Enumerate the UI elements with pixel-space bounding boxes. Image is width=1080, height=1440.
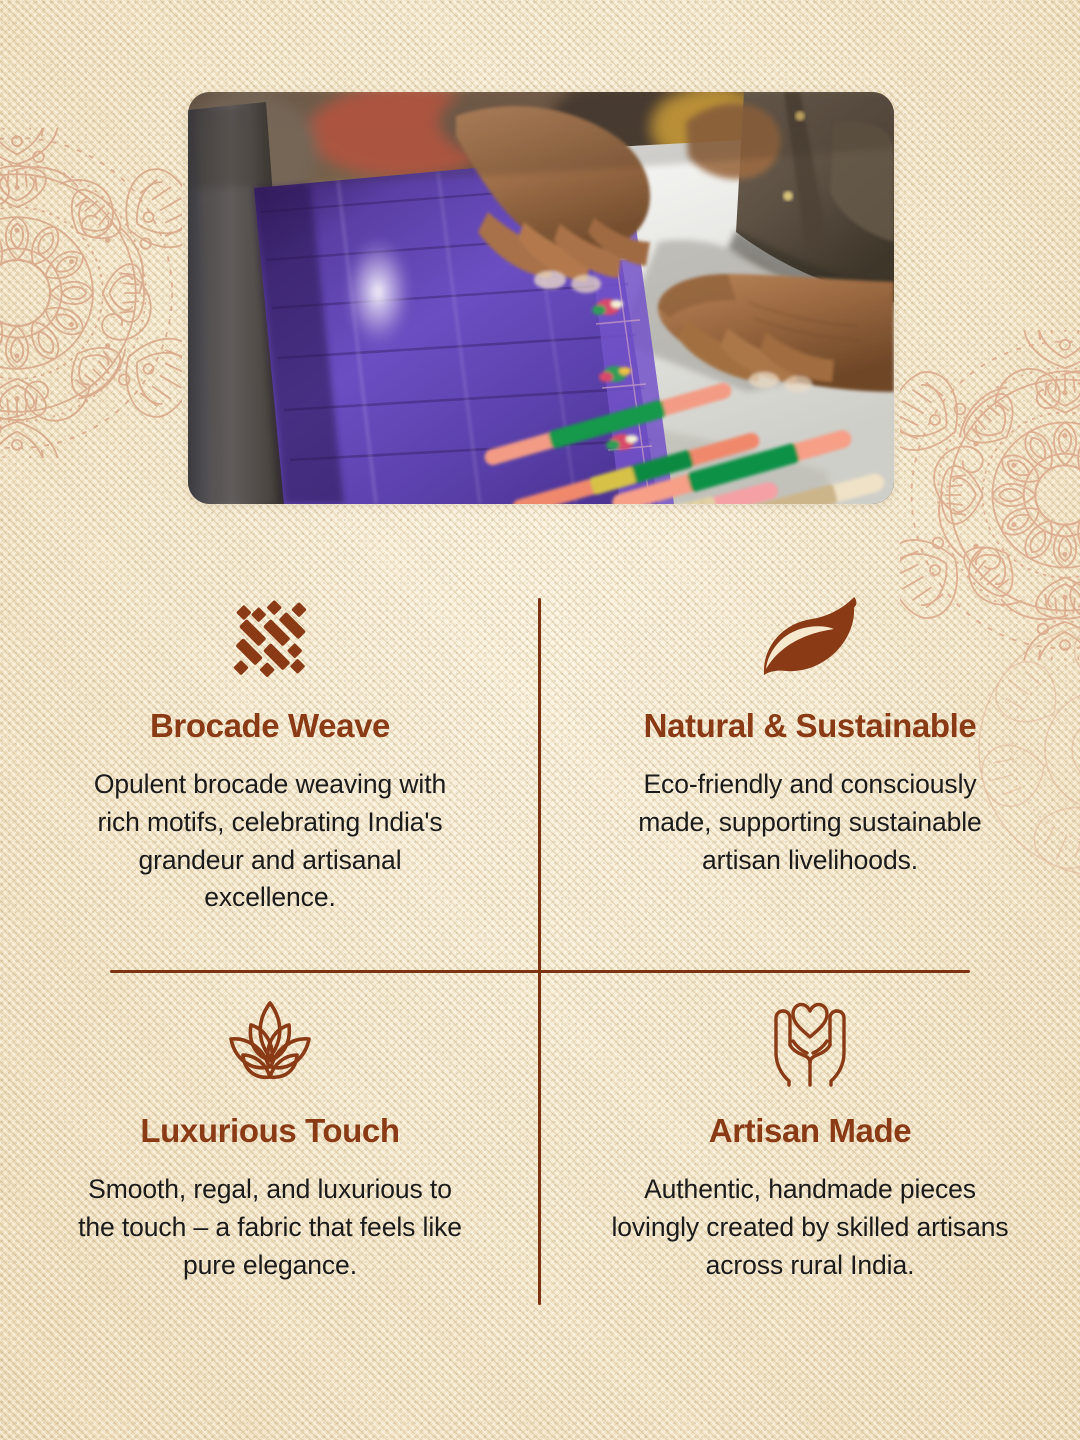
feature-description: Eco-friendly and consciously made, suppo… <box>610 766 1010 879</box>
hands-heart-icon <box>576 995 1044 1091</box>
leaf-icon <box>576 590 1044 686</box>
brocade-weave-icon <box>36 590 504 686</box>
feature-description: Authentic, handmade pieces lovingly crea… <box>610 1171 1010 1284</box>
handloom-weaving-photo <box>188 92 894 504</box>
feature-title: Artisan Made <box>576 1113 1044 1149</box>
feature-card-natural-sustainable: Natural & Sustainable Eco-friendly and c… <box>560 590 1060 879</box>
feature-card-brocade-weave: Brocade Weave Opulent brocade weaving wi… <box>20 590 520 917</box>
horizontal-divider <box>110 970 970 973</box>
feature-title: Brocade Weave <box>36 708 504 744</box>
poster-page: Brocade Weave Opulent brocade weaving wi… <box>0 0 1080 1440</box>
feature-title: Luxurious Touch <box>36 1113 504 1149</box>
feature-card-artisan-made: Artisan Made Authentic, handmade pieces … <box>560 995 1060 1284</box>
feature-description: Smooth, regal, and luxurious to the touc… <box>78 1171 463 1284</box>
lotus-icon <box>36 995 504 1091</box>
feature-description: Opulent brocade weaving with rich motifs… <box>73 766 468 917</box>
feature-card-luxurious-touch: Luxurious Touch Smooth, regal, and luxur… <box>20 995 520 1284</box>
feature-title: Natural & Sustainable <box>576 708 1044 744</box>
mandala-ornament-left <box>0 128 182 458</box>
features-grid: Brocade Weave Opulent brocade weaving wi… <box>0 560 1080 1350</box>
vertical-divider <box>538 598 541 1305</box>
